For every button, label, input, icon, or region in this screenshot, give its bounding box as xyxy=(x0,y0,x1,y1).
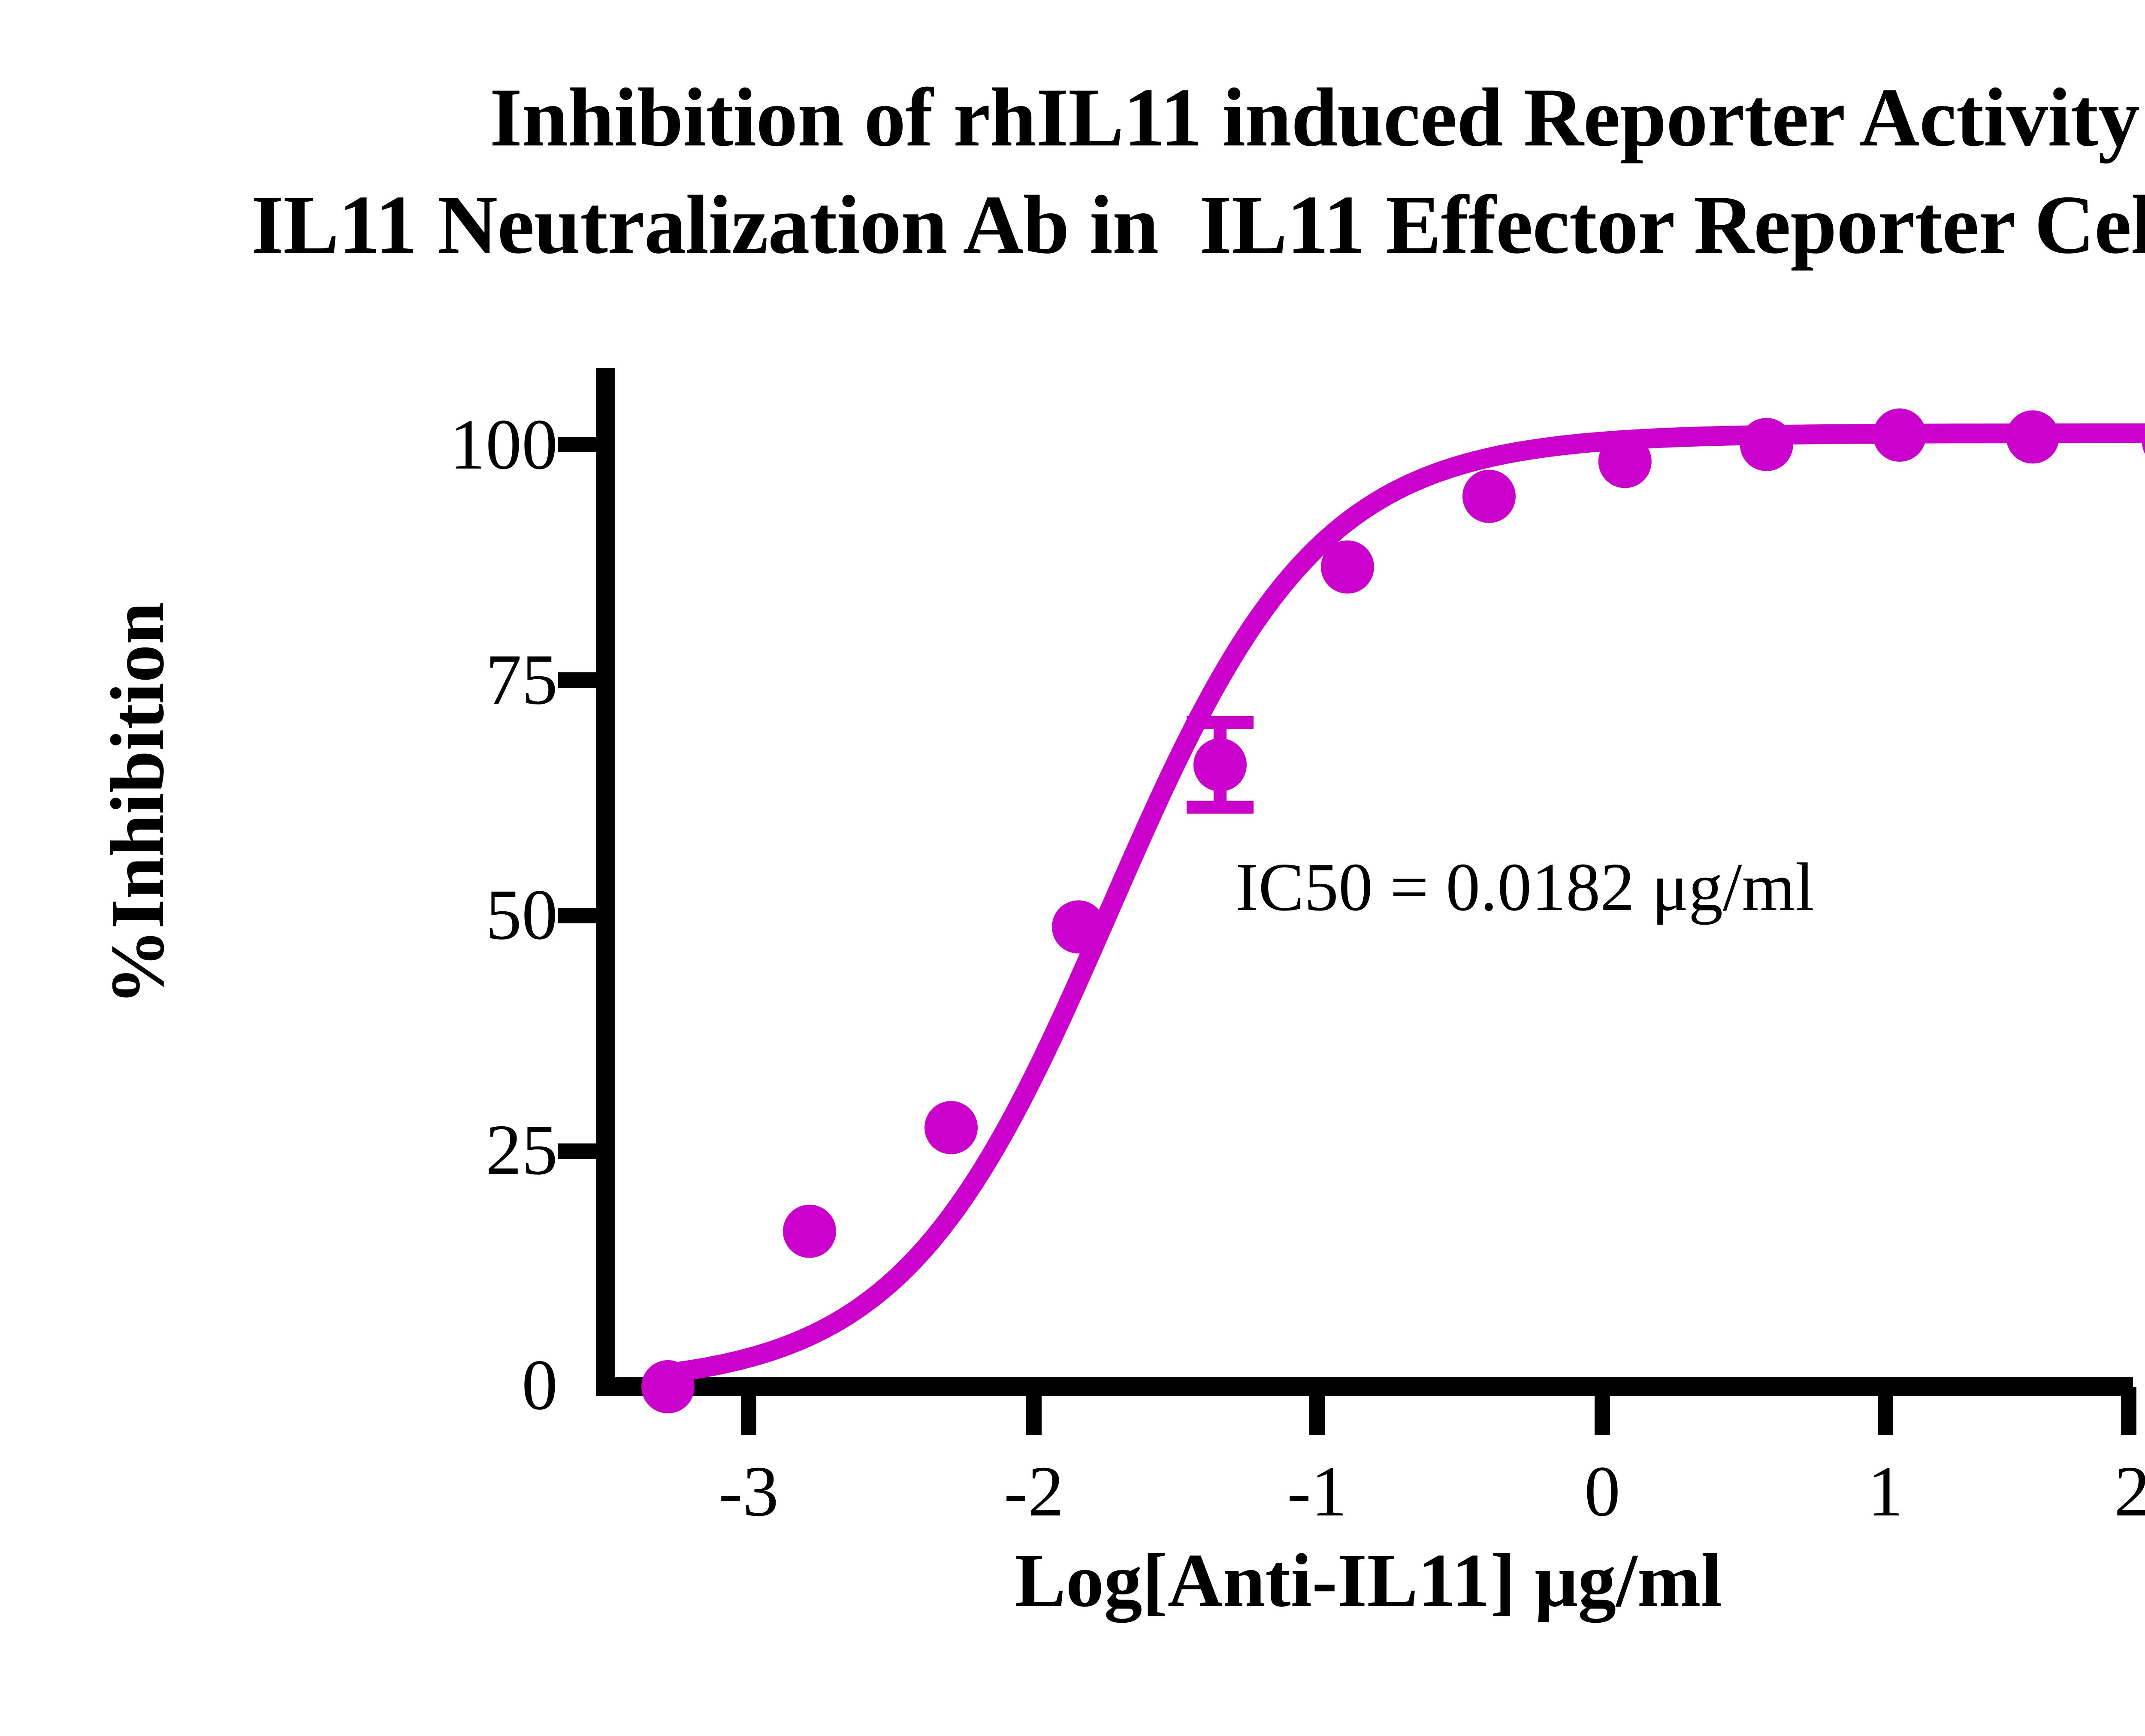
data-point-marker xyxy=(1462,470,1516,523)
data-point-marker xyxy=(1740,418,1793,471)
data-point-marker xyxy=(2006,410,2059,463)
data-point-marker xyxy=(1321,540,1374,593)
data-point-marker xyxy=(1598,435,1652,488)
plot-area xyxy=(0,0,2145,1736)
data-point-marker xyxy=(641,1360,695,1413)
fit-curve xyxy=(668,433,2145,1373)
data-point-marker xyxy=(783,1205,836,1258)
data-point-marker xyxy=(1052,900,1105,953)
data-point-marker xyxy=(924,1101,978,1154)
data-point-marker xyxy=(1193,738,1247,792)
data-markers xyxy=(641,408,2145,1413)
figure-canvas: Inhibition of rhIL11 induced Reporter Ac… xyxy=(0,0,2145,1736)
data-point-marker xyxy=(2142,415,2145,468)
data-point-marker xyxy=(1873,408,1926,462)
